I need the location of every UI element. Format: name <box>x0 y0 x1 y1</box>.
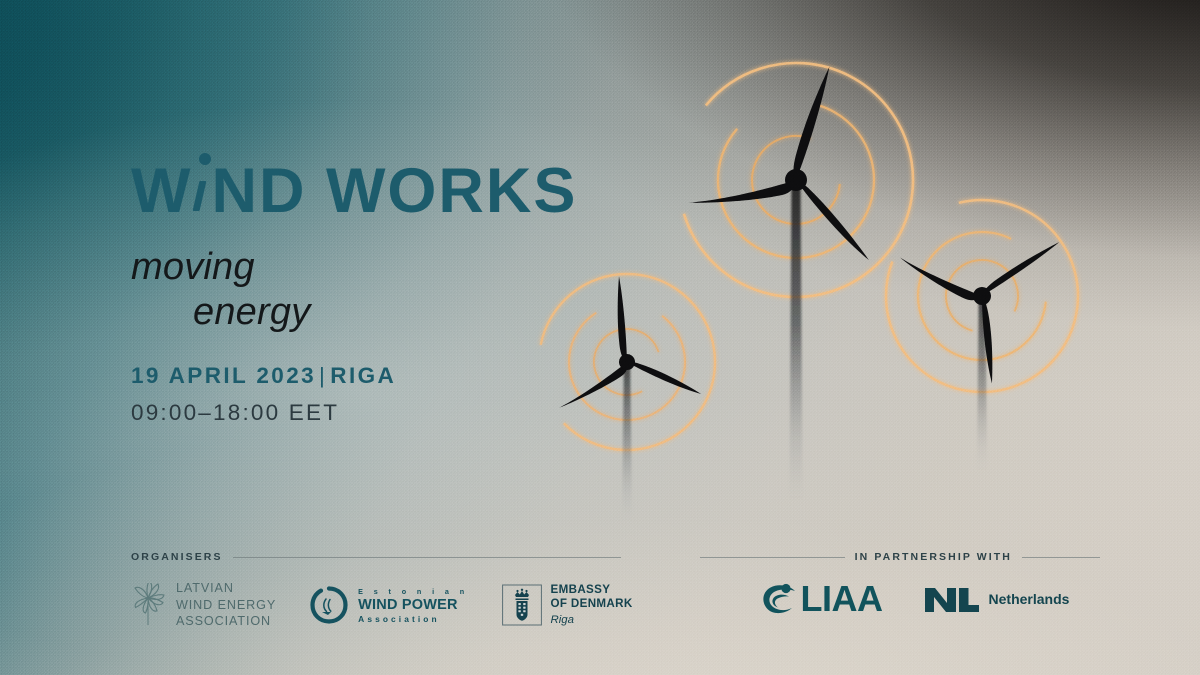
page-title-post: ND WORKS <box>211 160 577 223</box>
turbine-right-blades <box>896 174 1102 383</box>
organisers-header: ORGANISERS <box>131 550 621 564</box>
event-date-location: 19 APRIL 2023|RIGA <box>131 363 396 389</box>
netherlands-wordmark: Netherlands <box>989 591 1070 607</box>
denmark-line-3: Riga <box>551 613 633 627</box>
subtitle-line-1: moving <box>131 246 255 288</box>
organisers-rule <box>233 557 621 558</box>
lwea-line-1: LATVIAN <box>176 581 234 595</box>
partnership-section: IN PARTNERSHIP WITH LIAA <box>700 550 1100 618</box>
liaa-swoosh-icon <box>759 580 799 618</box>
event-time: 09:00–18:00 EET <box>131 400 396 426</box>
logo-denmark-text: EMBASSY OF DENMARK Riga <box>551 583 633 627</box>
partnership-rule-left <box>700 557 845 558</box>
page-title-pre: W <box>131 160 191 223</box>
partnership-rule-right <box>1022 557 1100 558</box>
footer: ORGANISERS <box>0 550 1200 675</box>
logo-latvian-text: LATVIAN WIND ENERGY ASSOCIATION <box>176 580 276 630</box>
event-datetime-block: 19 APRIL 2023|RIGA 09:00–18:00 EET <box>131 363 396 426</box>
partnership-label: IN PARTNERSHIP WITH <box>855 551 1012 563</box>
ewpa-line-3: Association <box>358 614 468 624</box>
ewpa-line-2: WIND POWER <box>358 597 468 613</box>
partnership-header: IN PARTNERSHIP WITH <box>700 550 1100 564</box>
logo-embassy-of-denmark[interactable]: EMBASSY OF DENMARK Riga <box>502 583 633 627</box>
event-separator: | <box>316 363 330 388</box>
logo-latvian-wind-energy-association[interactable]: LATVIAN WIND ENERGY ASSOCIATION <box>131 580 276 630</box>
lwea-line-2: WIND ENERGY <box>176 598 276 612</box>
partnership-logos: LIAA Netherlands <box>700 580 1100 618</box>
subtitle-line-2: energy <box>131 290 751 335</box>
page-title: WND WORKS <box>131 160 751 223</box>
event-date: 19 APRIL 2023 <box>131 363 316 388</box>
lwea-line-3: ASSOCIATION <box>176 614 271 628</box>
liaa-wordmark: LIAA <box>801 581 883 617</box>
denmark-line-1: EMBASSY <box>551 583 633 597</box>
logo-estonian-text: E s t o n i a n WIND POWER Association <box>358 587 468 624</box>
poster-canvas: WND WORKS moving energy 19 APRIL 2023|RI… <box>0 0 1200 675</box>
organisers-section: ORGANISERS <box>131 550 621 630</box>
pinwheel-icon <box>131 583 167 627</box>
logo-estonian-wind-power-association[interactable]: E s t o n i a n WIND POWER Association <box>309 585 468 625</box>
organisers-logos: LATVIAN WIND ENERGY ASSOCIATION <box>131 580 621 630</box>
page-subtitle: moving energy <box>131 245 751 335</box>
logo-liaa[interactable]: LIAA <box>759 580 883 618</box>
event-city: RIGA <box>330 363 396 388</box>
ewpa-line-1: E s t o n i a n <box>358 587 468 596</box>
logo-netherlands[interactable]: Netherlands <box>923 582 1070 616</box>
danish-crown-crest-icon <box>502 583 542 627</box>
denmark-line-2: OF DENMARK <box>551 597 633 611</box>
circle-swoosh-icon <box>309 585 349 625</box>
headline-block: WND WORKS moving energy <box>131 160 751 335</box>
organisers-label: ORGANISERS <box>131 551 223 563</box>
nl-monogram-icon <box>923 582 981 616</box>
